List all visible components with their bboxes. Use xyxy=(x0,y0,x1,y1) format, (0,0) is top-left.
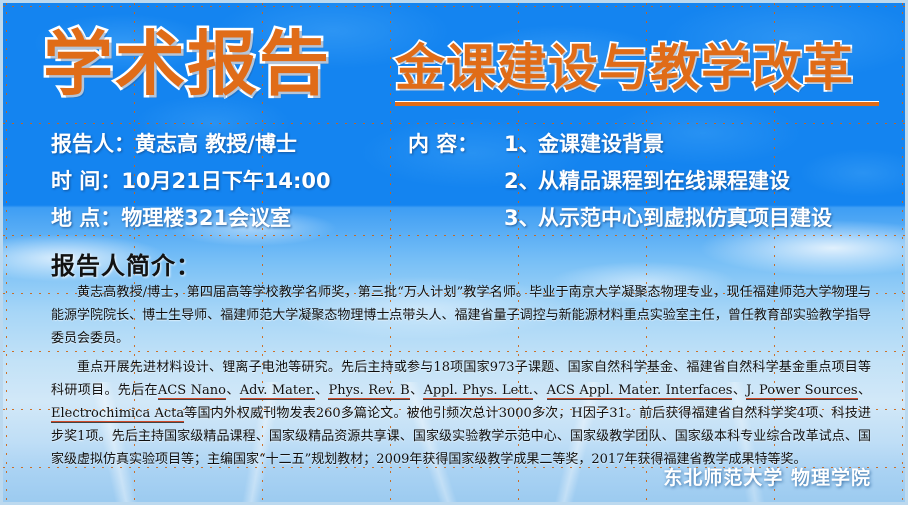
agenda-text-2: 从精品课程到在线课程建设 xyxy=(538,163,790,200)
bio-paragraph-2: 重点开展先进材料设计、锂离子电池等研究。先后主持或参与18项国家973子课题、国… xyxy=(51,356,871,471)
poster-slide: 学术报告 金课建设与教学改革 报告人：黄志高 教授/博士 时 间：10月21日下… xyxy=(0,0,908,505)
journal-separator: 、 xyxy=(315,383,329,398)
place-row: 地 点：物理楼321会议室 xyxy=(51,200,411,237)
journal-separator: 、 xyxy=(732,383,746,398)
journal-separator: 、 xyxy=(226,383,240,398)
agenda-number-1: 1、 xyxy=(504,126,538,163)
speaker-value: 黄志高 教授/博士 xyxy=(135,132,297,156)
title-row: 学术报告 金课建设与教学改革 xyxy=(3,19,908,111)
time-row: 时 间：10月21日下午14:00 xyxy=(51,163,411,200)
place-value: 物理楼321会议室 xyxy=(121,206,291,230)
journal-separator: 、 xyxy=(410,383,424,398)
journal-name: ACS Nano xyxy=(158,383,226,400)
bio-body: 黄志高教授/博士，第四届高等学校教学名师奖，第三批“万人计划”教学名师。毕业于南… xyxy=(51,281,871,477)
speaker-label: 报告人： xyxy=(51,126,135,163)
event-details-left: 报告人：黄志高 教授/博士 时 间：10月21日下午14:00 地 点：物理楼3… xyxy=(51,126,411,237)
journal-name: Phys. Rev. B xyxy=(328,383,409,400)
sub-title-underline xyxy=(395,101,879,106)
bio-paragraph-1: 黄志高教授/博士，第四届高等学校教学名师奖，第三批“万人计划”教学名师。毕业于南… xyxy=(51,281,871,350)
agenda-list: 内 容： 1、 金课建设背景 2、 从精品课程到在线课程建设 3、 从示范中心到… xyxy=(408,126,878,237)
agenda-item-2: 2、 从精品课程到在线课程建设 xyxy=(408,163,878,200)
agenda-text-1: 金课建设背景 xyxy=(538,126,664,163)
journal-separator: 、 xyxy=(858,383,871,398)
journal-name: Electrochimica Acta xyxy=(51,406,184,423)
time-value: 10月21日下午14:00 xyxy=(121,169,330,193)
sub-title: 金课建设与教学改革 xyxy=(395,37,879,99)
main-title: 学术报告 xyxy=(43,21,331,107)
agenda-number-3: 3、 xyxy=(504,200,538,237)
speaker-row: 报告人：黄志高 教授/博士 xyxy=(51,126,411,163)
agenda-item-3: 3、 从示范中心到虚拟仿真项目建设 xyxy=(408,200,878,237)
journal-name: ACS Appl. Mater. Interfaces xyxy=(547,383,733,400)
organization-footer: 东北师范大学 物理学院 xyxy=(663,463,871,490)
agenda-item-1: 内 容： 1、 金课建设背景 xyxy=(408,126,878,163)
content-label: 内 容： xyxy=(408,126,504,163)
agenda-number-2: 2、 xyxy=(504,163,538,200)
bio-heading: 报告人简介： xyxy=(51,246,201,281)
journal-name: Appl. Phys. Lett. xyxy=(423,383,532,400)
journal-separator: 、 xyxy=(533,383,547,398)
place-label: 地 点： xyxy=(51,200,121,237)
agenda-text-3: 从示范中心到虚拟仿真项目建设 xyxy=(538,200,832,237)
time-label: 时 间： xyxy=(51,163,121,200)
journal-name: J. Power Sources xyxy=(746,383,857,400)
journal-name: Adv. Mater. xyxy=(240,383,315,400)
sub-title-group: 金课建设与教学改革 xyxy=(395,37,879,106)
